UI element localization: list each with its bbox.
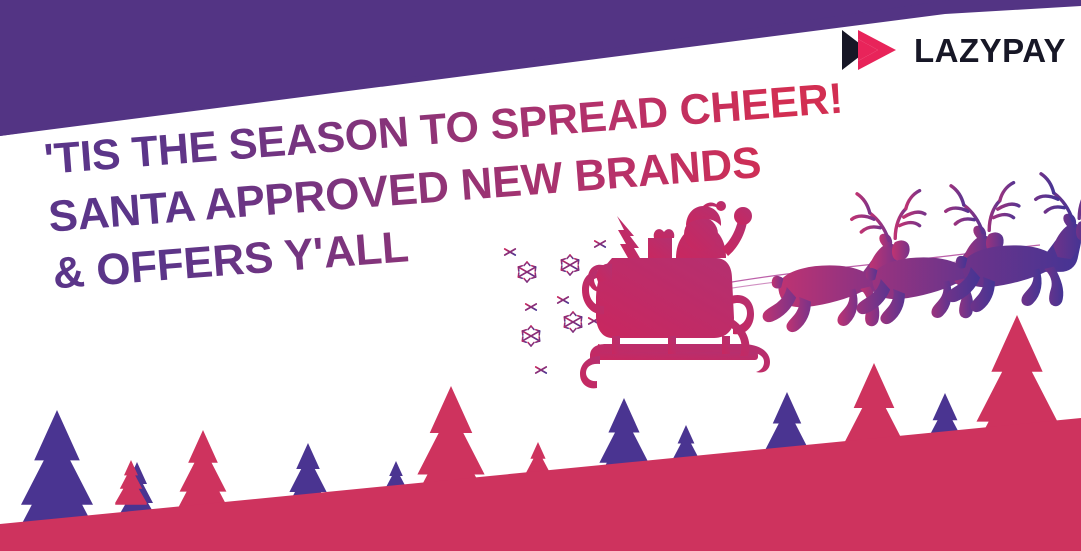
lazypay-wordmark: LAZYPAY <box>914 34 1066 67</box>
play-triangle-icon <box>838 28 900 72</box>
promotional-banner: LAZYPAY <box>0 0 1081 551</box>
lazypay-logo[interactable]: LAZYPAY <box>838 28 1066 72</box>
